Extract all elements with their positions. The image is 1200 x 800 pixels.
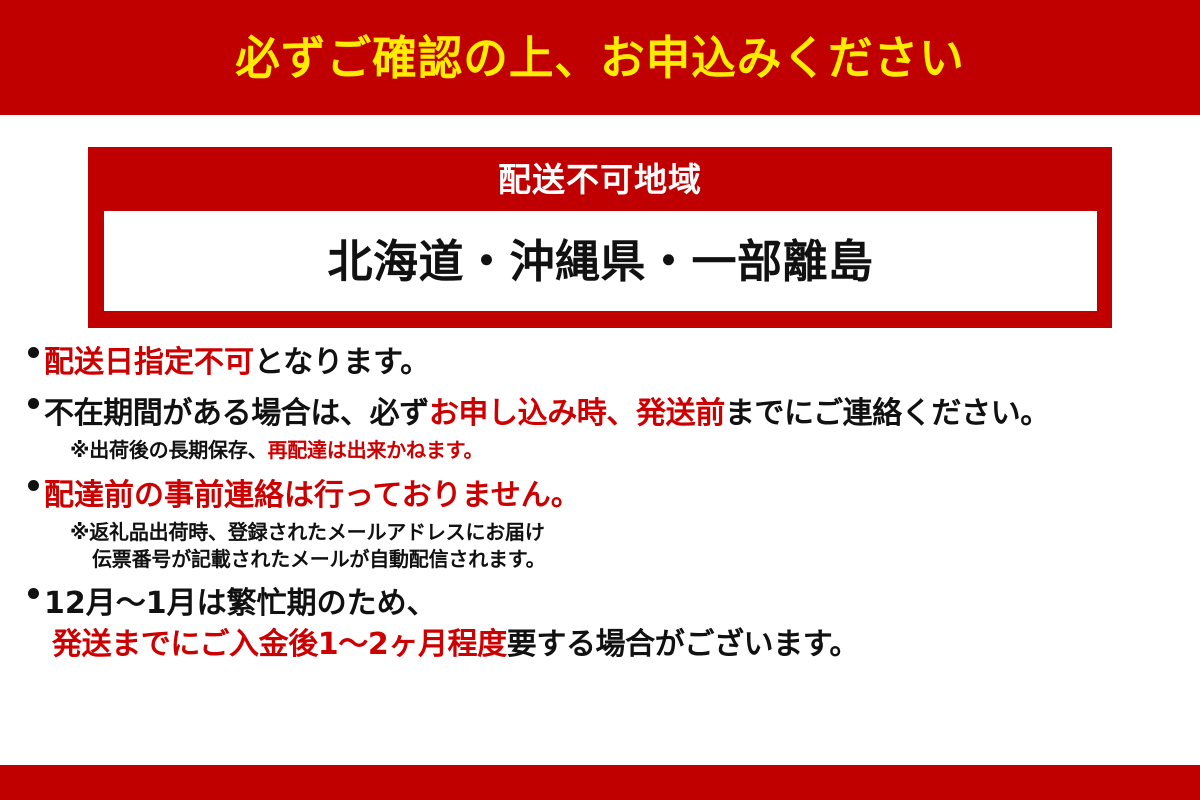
region-box-inner-panel: 北海道・沖縄県・一部離島 bbox=[104, 211, 1097, 311]
page-title: 必ずご確認の上、お申込みください bbox=[235, 35, 964, 81]
note-main-text: 12月～1月は繁忙期のため、 bbox=[44, 586, 1200, 623]
header-banner: 必ずご確認の上、お申込みください bbox=[0, 0, 1200, 115]
note-item-no-advance-contact: 配達前の事前連絡は行っておりません。 ※返礼品出荷時、登録されたメールアドレスに… bbox=[0, 478, 1200, 572]
note-emphasis: お申し込み時、発送前 bbox=[429, 396, 725, 431]
note-sub-emphasis: 再配達は出来かねます。 bbox=[267, 438, 483, 462]
region-list: 北海道・沖縄県・一部離島 bbox=[327, 239, 873, 284]
note-main-text: 不在期間がある場合は、必ずお申し込み時、発送前までにご連絡ください。 bbox=[44, 396, 1200, 433]
note-sub-text: ※返礼品出荷時、登録されたメールアドレスにお届け 伝票番号が記載されたメールが自… bbox=[70, 519, 1200, 572]
note-emphasis: 配送日指定不可 bbox=[44, 345, 254, 380]
note-sub-text: ※出荷後の長期保存、再配達は出来かねます。 bbox=[70, 437, 1200, 463]
undeliverable-region-box: 配送不可地域 北海道・沖縄県・一部離島 bbox=[88, 147, 1112, 328]
note-secondary-line: 発送までにご入金後1～2ヶ月程度要する場合がございます。 bbox=[52, 627, 1200, 664]
note-sub-line-2: 伝票番号が記載されたメールが自動配信されます。 bbox=[70, 546, 1200, 572]
note-item-busy-season: 12月～1月は繁忙期のため、 発送までにご入金後1～2ヶ月程度要する場合がござい… bbox=[0, 586, 1200, 663]
notes-list: 配送日指定不可となります。 不在期間がある場合は、必ずお申し込み時、発送前までに… bbox=[0, 345, 1200, 663]
note-plain: 12月～1月は繁忙期のため、 bbox=[44, 586, 437, 621]
note-plain: となります。 bbox=[254, 345, 430, 380]
bullet-icon bbox=[28, 480, 39, 491]
bullet-icon bbox=[28, 588, 39, 599]
notice-page: 必ずご確認の上、お申込みください 配送不可地域 北海道・沖縄県・一部離島 配送日… bbox=[0, 0, 1200, 800]
note-plain-tail: までにご連絡ください。 bbox=[725, 396, 1050, 431]
note-emphasis: 配達前の事前連絡は行っておりません。 bbox=[44, 478, 581, 513]
note-plain-lead: 不在期間がある場合は、必ず bbox=[44, 396, 429, 431]
note-sub-line-1: ※返礼品出荷時、登録されたメールアドレスにお届け bbox=[70, 520, 545, 544]
footer-bar bbox=[0, 765, 1200, 800]
bullet-icon bbox=[28, 398, 39, 409]
region-box-heading: 配送不可地域 bbox=[88, 147, 1112, 211]
note-sub-plain: ※出荷後の長期保存、 bbox=[70, 438, 267, 462]
note-item-delivery-date: 配送日指定不可となります。 bbox=[0, 345, 1200, 382]
note-main-text: 配送日指定不可となります。 bbox=[44, 345, 1200, 382]
note-main-text: 配達前の事前連絡は行っておりません。 bbox=[44, 478, 1200, 515]
note-emphasis: 発送までにご入金後1～2ヶ月程度 bbox=[52, 627, 507, 662]
bullet-icon bbox=[28, 347, 39, 358]
note-item-absence-period: 不在期間がある場合は、必ずお申し込み時、発送前までにご連絡ください。 ※出荷後の… bbox=[0, 396, 1200, 464]
note-plain-tail: 要する場合がございます。 bbox=[507, 627, 859, 662]
